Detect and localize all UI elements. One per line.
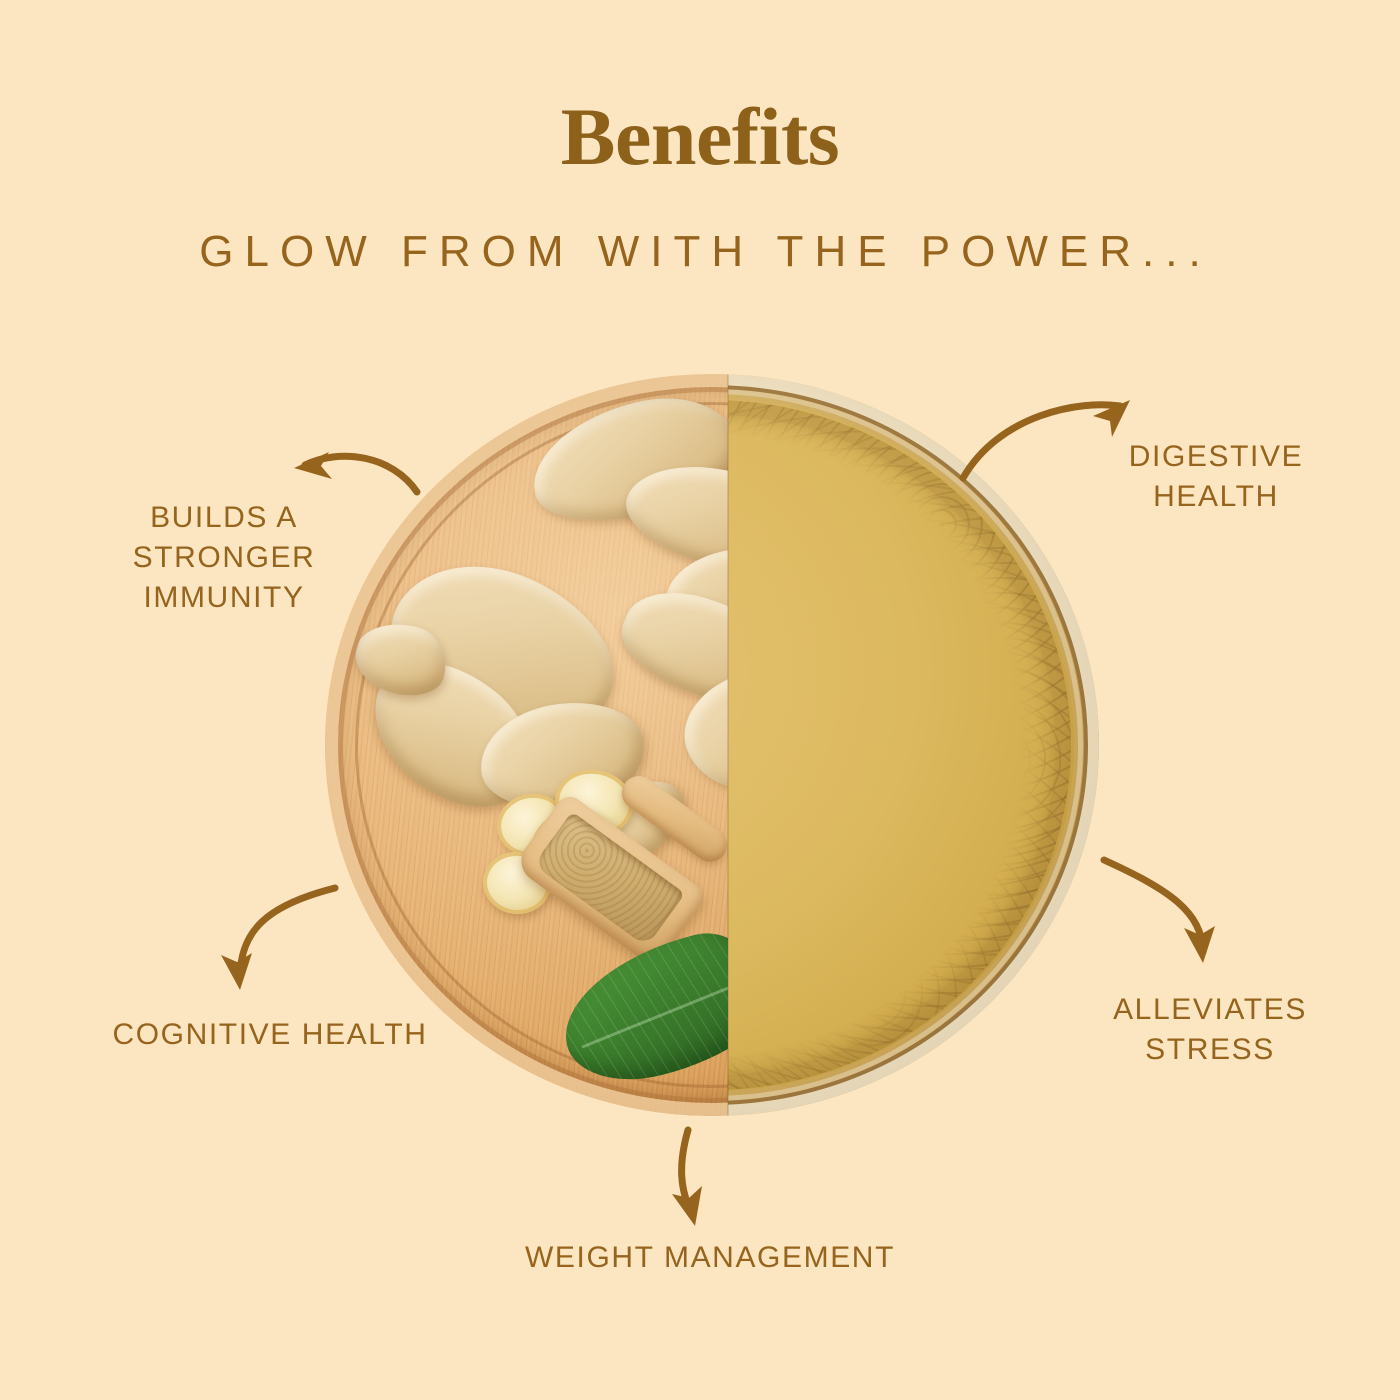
arrowhead-down-right [1184,926,1215,963]
page-subtitle: GLOW FROM WITH THE POWER... [0,230,1400,274]
curved-arrow-down-left [240,888,335,978]
image-split-seam [727,374,729,1116]
benefit-label-cognitive-health: COGNITIVE HEALTH [50,1015,490,1055]
arrowhead-down [672,1186,702,1226]
benefit-label-immunity: BUILDS A STRONGER IMMUNITY [65,498,383,619]
curved-arrow-down-right [1104,860,1203,952]
curved-arrow-down [682,1130,692,1214]
benefit-label-weight-management: WEIGHT MANAGEMENT [455,1238,965,1278]
infographic-canvas: Benefits GLOW FROM WITH THE POWER... [0,0,1400,1400]
hero-split-circle-image [325,374,1099,1116]
page-title: Benefits [0,96,1400,178]
benefit-label-alleviates-stress: ALLEVIATES STRESS [1040,990,1380,1070]
ginger-board-half [325,374,728,1116]
arrowhead-down-left [221,953,252,990]
plate-rim [325,374,728,1116]
benefit-label-digestive-health: DIGESTIVE HEALTH [1046,437,1386,517]
